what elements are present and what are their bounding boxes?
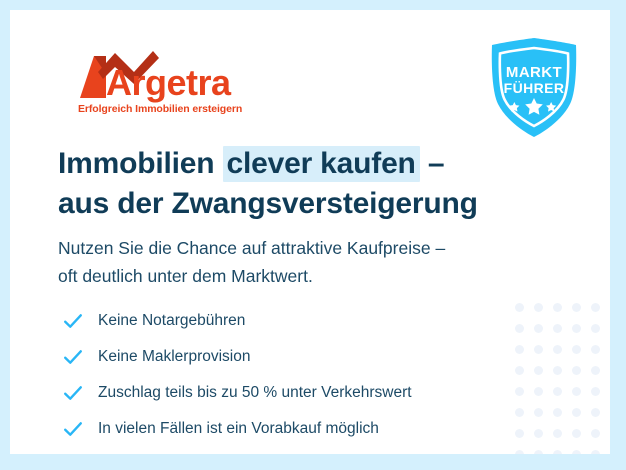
list-item-label: In vielen Fällen ist ein Vorabkauf mögli… — [98, 420, 379, 438]
dot — [591, 345, 600, 354]
dot — [553, 366, 562, 375]
check-icon — [62, 418, 84, 440]
dot — [572, 366, 581, 375]
check-icon — [62, 310, 84, 332]
dot — [534, 408, 543, 417]
benefits-list: Keine Notargebühren Keine Maklerprovisio… — [62, 306, 412, 450]
page-title: Immobilien clever kaufen – aus der Zwang… — [58, 144, 478, 223]
dot-grid-decoration — [515, 303, 610, 454]
dot — [515, 429, 524, 438]
headline-pre: Immobilien — [58, 147, 223, 180]
dot — [515, 387, 524, 396]
badge-line1: MARKT — [506, 64, 562, 81]
headline-highlight: clever kaufen — [223, 146, 420, 182]
dot — [515, 345, 524, 354]
dot — [534, 450, 543, 454]
dot — [534, 366, 543, 375]
dot — [572, 408, 581, 417]
headline-line2: aus der Zwangsversteigerung — [58, 184, 478, 223]
dot — [591, 429, 600, 438]
dot — [515, 303, 524, 312]
dot — [572, 429, 581, 438]
check-icon — [62, 346, 84, 368]
dot — [534, 387, 543, 396]
headline-post: – — [420, 147, 445, 180]
logo-wordmark: Argetra — [106, 62, 232, 103]
logo-tagline: Erfolgreich Immobilien ersteigern — [78, 103, 242, 115]
list-item: Zuschlag teils bis zu 50 % unter Verkehr… — [62, 378, 412, 408]
dot — [534, 429, 543, 438]
banner-card: Argetra Erfolgreich Immobilien ersteiger… — [10, 10, 610, 454]
dot — [534, 345, 543, 354]
dot — [591, 387, 600, 396]
dot — [591, 324, 600, 333]
dot — [553, 408, 562, 417]
subheading-line2: oft deutlich unter dem Marktwert. — [58, 262, 445, 290]
list-item-label: Zuschlag teils bis zu 50 % unter Verkehr… — [98, 384, 412, 402]
dot — [553, 387, 562, 396]
subheading: Nutzen Sie die Chance auf attraktive Kau… — [58, 234, 445, 291]
dot — [553, 345, 562, 354]
dot — [515, 408, 524, 417]
list-item: In vielen Fällen ist ein Vorabkauf mögli… — [62, 414, 412, 444]
list-item: Keine Notargebühren — [62, 306, 412, 336]
dot — [553, 324, 562, 333]
dot — [534, 324, 543, 333]
dot — [553, 303, 562, 312]
dot — [591, 303, 600, 312]
dot — [515, 324, 524, 333]
dot — [534, 303, 543, 312]
dot — [572, 324, 581, 333]
dot — [591, 366, 600, 375]
subheading-line1: Nutzen Sie die Chance auf attraktive Kau… — [58, 234, 445, 262]
dot — [591, 450, 600, 454]
dot — [572, 303, 581, 312]
badge-line2: FÜHRER — [504, 80, 565, 96]
dot — [515, 450, 524, 454]
list-item: Keine Maklerprovision — [62, 342, 412, 372]
dot — [553, 450, 562, 454]
banner-frame: Argetra Erfolgreich Immobilien ersteiger… — [0, 0, 626, 470]
list-item-label: Keine Maklerprovision — [98, 348, 251, 366]
dot — [515, 366, 524, 375]
dot — [572, 450, 581, 454]
check-icon — [62, 382, 84, 404]
dot — [553, 429, 562, 438]
marktfuehrer-badge: MARKT FÜHRER — [486, 36, 582, 140]
dot — [591, 408, 600, 417]
list-item-label: Keine Notargebühren — [98, 312, 245, 330]
argetra-logo[interactable]: Argetra Erfolgreich Immobilien ersteiger… — [58, 48, 248, 120]
dot — [572, 387, 581, 396]
dot — [572, 345, 581, 354]
